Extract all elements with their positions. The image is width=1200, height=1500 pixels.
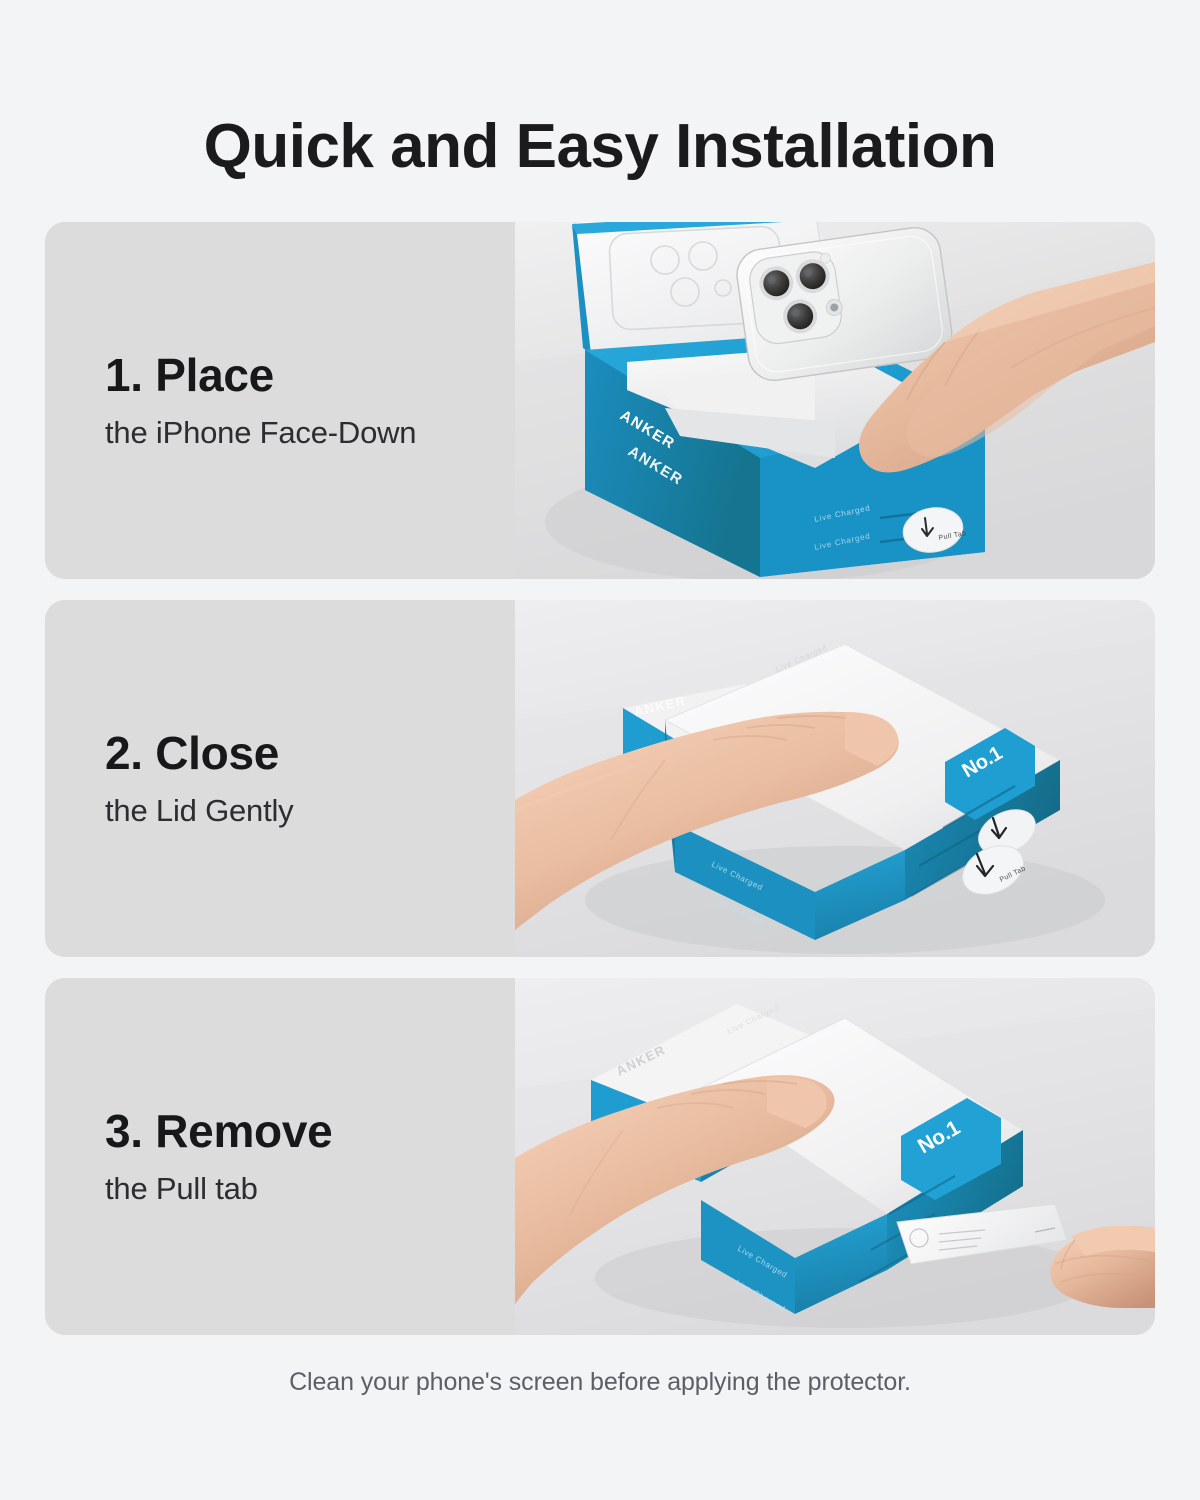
step-2-illustration: ANKER ANKER Live Charged No.1 xyxy=(515,600,1155,957)
step-2-photo: ANKER ANKER Live Charged No.1 xyxy=(515,600,1155,957)
step-card-3: 3. Remove the Pull tab xyxy=(45,978,1155,1335)
step-1-title: 1. Place xyxy=(105,350,515,401)
step-1-photo: ANKER ANKER Live Charged Live Charged Pu… xyxy=(515,222,1155,579)
step-3-subtitle: the Pull tab xyxy=(105,1170,515,1207)
step-3-illustration: ANKER ANKER ANKER Live Charged No.1 Live… xyxy=(515,978,1155,1335)
page-title: Quick and Easy Installation xyxy=(0,114,1200,179)
step-card-2: 2. Close the Lid Gently xyxy=(45,600,1155,957)
step-3-photo: ANKER ANKER ANKER Live Charged No.1 Live… xyxy=(515,978,1155,1335)
installation-guide-page: Quick and Easy Installation 1. Place the… xyxy=(0,0,1200,1500)
step-3-text-block: 3. Remove the Pull tab xyxy=(45,978,515,1335)
footer-note: Clean your phone's screen before applyin… xyxy=(0,1368,1200,1397)
iphone-device xyxy=(734,224,955,383)
step-card-1: 1. Place the iPhone Face-Down xyxy=(45,222,1155,579)
step-1-text-block: 1. Place the iPhone Face-Down xyxy=(45,222,515,579)
step-2-subtitle: the Lid Gently xyxy=(105,792,515,829)
step-1-illustration: ANKER ANKER Live Charged Live Charged Pu… xyxy=(515,222,1155,579)
step-2-text-block: 2. Close the Lid Gently xyxy=(45,600,515,957)
step-2-title: 2. Close xyxy=(105,728,515,779)
step-3-title: 3. Remove xyxy=(105,1106,515,1157)
step-1-subtitle: the iPhone Face-Down xyxy=(105,414,515,451)
